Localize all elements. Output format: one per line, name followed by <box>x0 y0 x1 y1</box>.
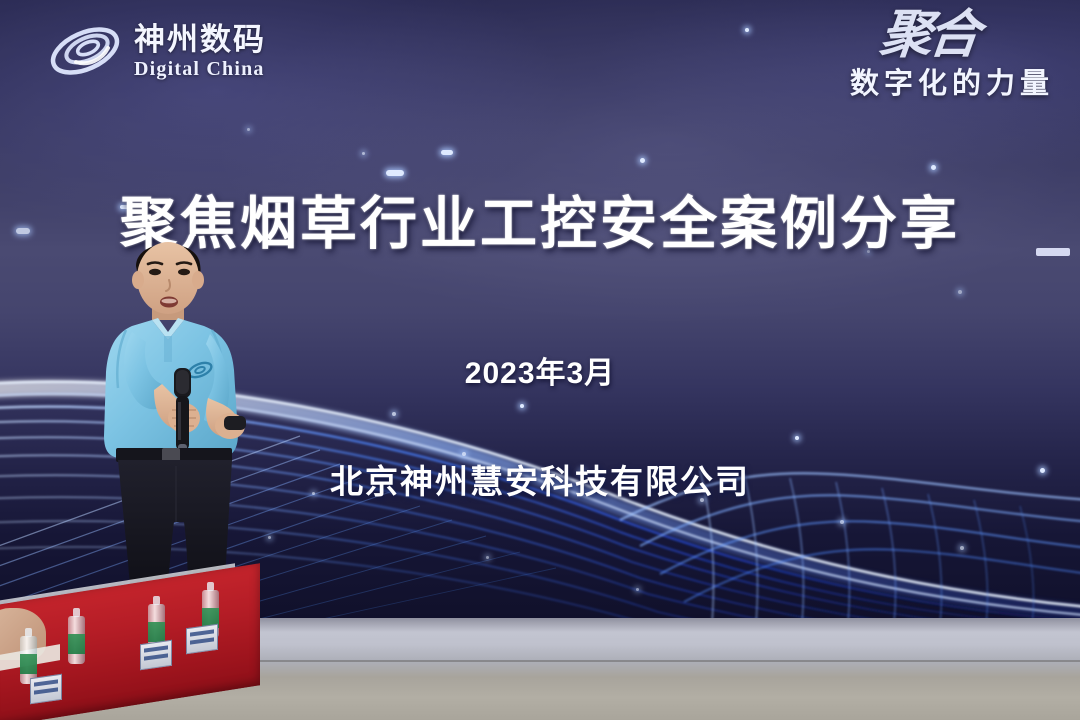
brand-english-name: Digital China <box>134 59 266 79</box>
digital-china-wordmark: 神州数码 Digital China <box>134 24 266 79</box>
event-calligraphy-mark: 聚合 <box>878 14 979 58</box>
digital-china-logo: 神州数码 Digital China <box>46 18 266 84</box>
stage-photo: 神州数码 Digital China 聚合 数字化的力量 聚焦烟草行业工控安全案… <box>0 0 1080 720</box>
name-card <box>30 674 62 704</box>
speaker-figure <box>92 222 292 627</box>
name-card <box>140 640 172 670</box>
water-bottle <box>68 616 85 664</box>
foreground-head-table <box>0 588 260 720</box>
presenter-clicker-icon <box>224 416 246 430</box>
name-card <box>186 624 218 654</box>
microphone-icon <box>174 368 191 458</box>
event-theme-subtitle: 数字化的力量 <box>850 60 1054 102</box>
speaker-illustration <box>92 222 292 622</box>
slide-accent-dash <box>1036 248 1070 256</box>
brand-chinese-name: 神州数码 <box>134 24 266 55</box>
event-theme-logo: 聚合 数字化的力量 <box>850 14 1054 102</box>
digital-china-swoosh-icon <box>46 18 124 84</box>
